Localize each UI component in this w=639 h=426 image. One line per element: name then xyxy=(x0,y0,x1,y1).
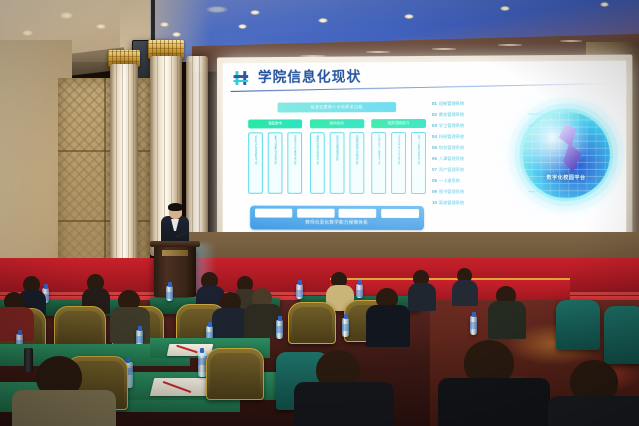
soffit-led xyxy=(432,48,456,50)
system-item: 01迎新管理系统 xyxy=(432,98,529,109)
column-text: 实习过程监控系统 xyxy=(417,135,420,165)
item-number: 07 xyxy=(432,167,437,172)
banquet-chair xyxy=(288,302,336,344)
column-card: 在线开放课程平台 xyxy=(248,132,263,193)
item-number: 09 xyxy=(432,189,437,194)
column-card: 数字化教学资源库 xyxy=(268,132,283,193)
item-label: 离校管理系统 xyxy=(439,200,464,206)
system-list: 01迎新管理系统 02教务管理系统 03学工管理系统 04科研管理系统 05财务… xyxy=(432,98,529,209)
item-label: 教务管理系统 xyxy=(439,111,464,117)
column-card: 企业导师互动系统 xyxy=(391,132,406,194)
ceiling-downlight xyxy=(96,24,106,29)
hall-column xyxy=(186,56,208,256)
column-text: 技能竞赛训练系统 xyxy=(355,135,358,164)
column-text: 企业导师互动系统 xyxy=(397,135,400,165)
ceiling-fixture xyxy=(206,6,228,13)
slide-title: 学院信息化现状 xyxy=(258,66,361,86)
column-card: 课堂互动教学系统 xyxy=(287,132,302,194)
diagram-groups: 课程教学 在线开放课程平台 数字化教学资源库 课堂互动教学系统 校内实训 虚拟仿… xyxy=(248,119,426,194)
ceiling-downlight xyxy=(238,24,247,29)
banquet-chair xyxy=(206,348,264,400)
item-label: 财务管理系统 xyxy=(439,144,464,150)
column-text: 课堂互动教学系统 xyxy=(293,135,296,164)
ceiling-downlight xyxy=(250,10,260,15)
system-item: 04科研管理系统 xyxy=(432,131,529,142)
item-number: 05 xyxy=(432,145,437,150)
group-columns: 虚拟仿真实训平台 实训室管理系统 技能竞赛训练系统 xyxy=(309,132,363,194)
footer-label: 教师信息化教学能力保障体系 xyxy=(250,219,424,226)
system-item: 05财务管理系统 xyxy=(432,142,529,153)
group-columns: 顶岗实习管理平台 企业导师互动系统 实习过程监控系统 xyxy=(371,132,426,194)
thermos xyxy=(24,348,33,372)
college-h-mark-icon xyxy=(234,71,250,85)
globe-label: 数字化校园平台 xyxy=(522,174,609,181)
item-label: 科研管理系统 xyxy=(439,133,464,139)
ceiling-downlight xyxy=(172,32,181,37)
water-bottle xyxy=(276,320,283,339)
group-header: 校外顶岗实习 xyxy=(371,119,426,128)
item-label: 图书管理系统 xyxy=(439,189,464,195)
item-number: 06 xyxy=(432,156,437,161)
column-text: 在线开放课程平台 xyxy=(254,135,257,164)
globe-icon: 数字化校园平台 xyxy=(522,111,609,198)
system-item: 09图书管理系统 xyxy=(432,186,529,197)
column-text: 数字化教学资源库 xyxy=(273,135,276,164)
ceiling-downlight xyxy=(160,22,169,27)
footer-box xyxy=(381,209,419,218)
system-item: 03学工管理系统 xyxy=(432,120,529,131)
podium-top xyxy=(150,241,200,247)
diagram-group: 校内实训 虚拟仿真实训平台 实训室管理系统 技能竞赛训练系统 xyxy=(309,119,363,194)
diagram-group: 课程教学 在线开放课程平台 数字化教学资源库 课堂互动教学系统 xyxy=(248,119,302,193)
ceiling-downlight xyxy=(404,14,414,19)
water-bottle xyxy=(166,286,173,301)
system-item: 06人事管理系统 xyxy=(432,153,529,164)
item-label: 迎新管理系统 xyxy=(439,100,464,106)
podium-plate xyxy=(162,250,188,256)
column-card: 顶岗实习管理平台 xyxy=(371,132,386,194)
presenter-hair xyxy=(168,203,183,211)
column-card: 虚拟仿真实训平台 xyxy=(309,132,324,194)
group-header: 校内实训 xyxy=(309,119,363,128)
footer-box xyxy=(255,209,292,218)
system-item: 02教务管理系统 xyxy=(432,109,529,120)
ceiling-downlight xyxy=(60,12,73,19)
soffit-led xyxy=(498,44,522,46)
slide-header: 学院信息化现状 xyxy=(223,61,626,97)
item-number: 08 xyxy=(432,178,437,183)
item-number: 01 xyxy=(432,101,437,106)
column-text: 虚拟仿真实训平台 xyxy=(315,135,318,164)
footer-box xyxy=(297,209,334,218)
water-bottle xyxy=(342,318,349,337)
teacher-capability-bar: 教师信息化教学能力保障体系 xyxy=(250,206,424,230)
soffit-led xyxy=(560,40,582,42)
ceiling-downlight xyxy=(318,18,328,23)
diagram-group: 校外顶岗实习 顶岗实习管理平台 企业导师互动系统 实习过程监控系统 xyxy=(371,119,426,194)
footer-boxes xyxy=(255,209,419,218)
item-number: 03 xyxy=(432,123,437,128)
water-bottle xyxy=(296,284,303,299)
ceiling-downlight xyxy=(22,30,33,36)
item-label: 资产管理系统 xyxy=(439,166,464,172)
column-card: 实习过程监控系统 xyxy=(411,132,426,194)
group-header: 课程教学 xyxy=(248,119,302,128)
item-number: 04 xyxy=(432,134,437,139)
teal-chair xyxy=(556,300,600,350)
item-number: 10 xyxy=(432,200,437,205)
column-card: 实训室管理系统 xyxy=(329,132,344,194)
item-number: 02 xyxy=(432,112,437,117)
management-informatization-diagram: 01迎新管理系统 02教务管理系统 03学工管理系统 04科研管理系统 05财务… xyxy=(432,97,616,239)
water-bottle xyxy=(356,284,363,298)
system-item: 08一卡通系统 xyxy=(432,175,529,186)
soffit-led xyxy=(366,51,390,53)
system-item: 07资产管理系统 xyxy=(432,164,529,175)
teal-chair xyxy=(604,306,639,364)
column-card: 技能竞赛训练系统 xyxy=(349,132,364,194)
water-bottle xyxy=(470,316,477,335)
system-item: 10离校管理系统 xyxy=(432,197,529,208)
item-label: 学工管理系统 xyxy=(439,122,464,128)
teaching-informatization-diagram: 信息化贯穿人才培养全过程 课程教学 在线开放课程平台 数字化教学资源库 课堂互动… xyxy=(248,102,426,232)
conference-hall-photo: 学院信息化现状 信息化贯穿人才培养全过程 课程教学 在线开放课程平台 数字化教学… xyxy=(0,0,639,426)
speaker-mount-rod xyxy=(151,0,155,42)
column-text: 顶岗实习管理平台 xyxy=(377,135,380,165)
footer-box xyxy=(339,209,377,218)
item-label: 一卡通系统 xyxy=(439,178,460,184)
ceiling-downlight xyxy=(600,2,609,7)
ceiling-downlight xyxy=(500,6,510,11)
group-columns: 在线开放课程平台 数字化教学资源库 课堂互动教学系统 xyxy=(248,132,302,194)
column-text: 实训室管理系统 xyxy=(335,135,338,161)
item-label: 人事管理系统 xyxy=(439,155,464,161)
diagram-header: 信息化贯穿人才培养全过程 xyxy=(278,102,397,112)
